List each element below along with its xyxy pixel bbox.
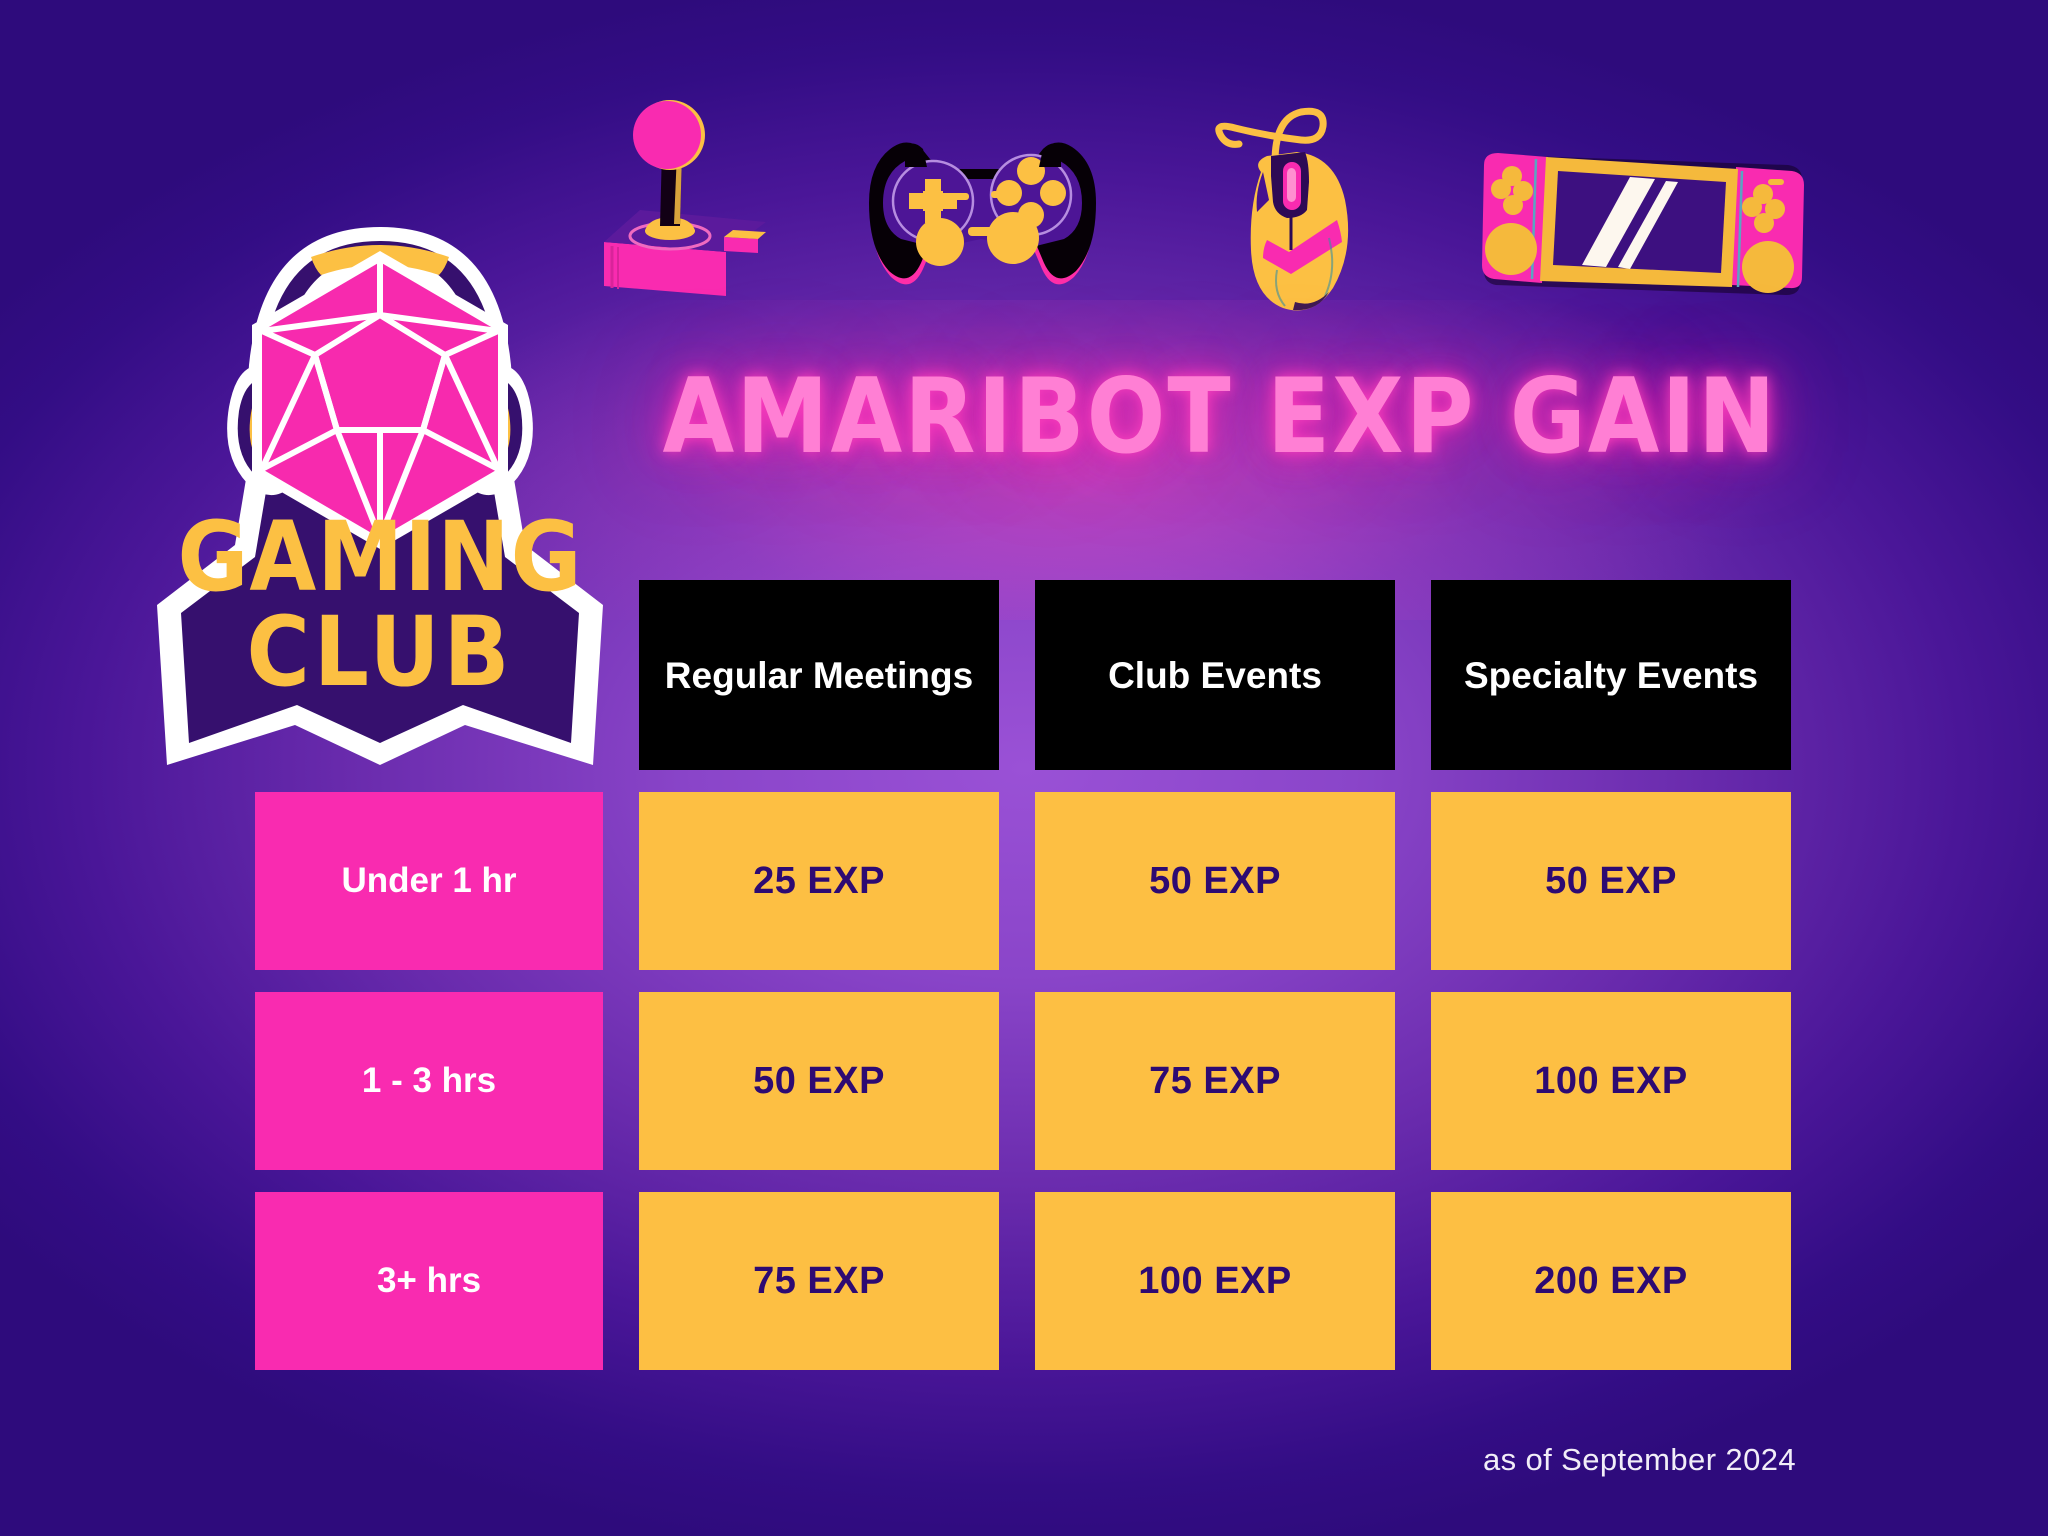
exp-gain-table: Regular Meetings Club Events Specialty E… (255, 580, 1795, 1370)
cell-under1hr-club: 50 EXP (1035, 792, 1395, 970)
cell-1to3hrs-specialty: 100 EXP (1431, 992, 1791, 1170)
arcade-joystick-icon (600, 100, 770, 320)
cell-1to3hrs-club: 75 EXP (1035, 992, 1395, 1170)
header-corner-spacer (255, 580, 603, 758)
row-label-under-1-hr: Under 1 hr (255, 792, 603, 970)
table-header-row: Regular Meetings Club Events Specialty E… (255, 580, 1795, 770)
computer-mouse-icon (1205, 100, 1375, 320)
cell-under1hr-regular: 25 EXP (639, 792, 999, 970)
column-header-regular-meetings: Regular Meetings (639, 580, 999, 770)
gaming-icon-row (600, 90, 1860, 330)
handheld-console-icon (1470, 145, 1810, 300)
column-header-club-events: Club Events (1035, 580, 1395, 770)
as-of-date-note: as of September 2024 (1483, 1442, 1796, 1478)
cell-3plushrs-club: 100 EXP (1035, 1192, 1395, 1370)
table-row: Under 1 hr 25 EXP 50 EXP 50 EXP (255, 792, 1795, 970)
row-label-1-3-hrs: 1 - 3 hrs (255, 992, 603, 1170)
cell-3plushrs-regular: 75 EXP (639, 1192, 999, 1370)
row-label-3-plus-hrs: 3+ hrs (255, 1192, 603, 1370)
cell-3plushrs-specialty: 200 EXP (1431, 1192, 1791, 1370)
table-row: 1 - 3 hrs 50 EXP 75 EXP 100 EXP (255, 992, 1795, 1170)
table-row: 3+ hrs 75 EXP 100 EXP 200 EXP (255, 1192, 1795, 1370)
cell-1to3hrs-regular: 50 EXP (639, 992, 999, 1170)
game-controller-icon (865, 135, 1100, 290)
cell-under1hr-specialty: 50 EXP (1431, 792, 1791, 970)
column-header-specialty-events: Specialty Events (1431, 580, 1791, 770)
page-title: AMARIBOT EXP GAIN (620, 362, 1820, 472)
